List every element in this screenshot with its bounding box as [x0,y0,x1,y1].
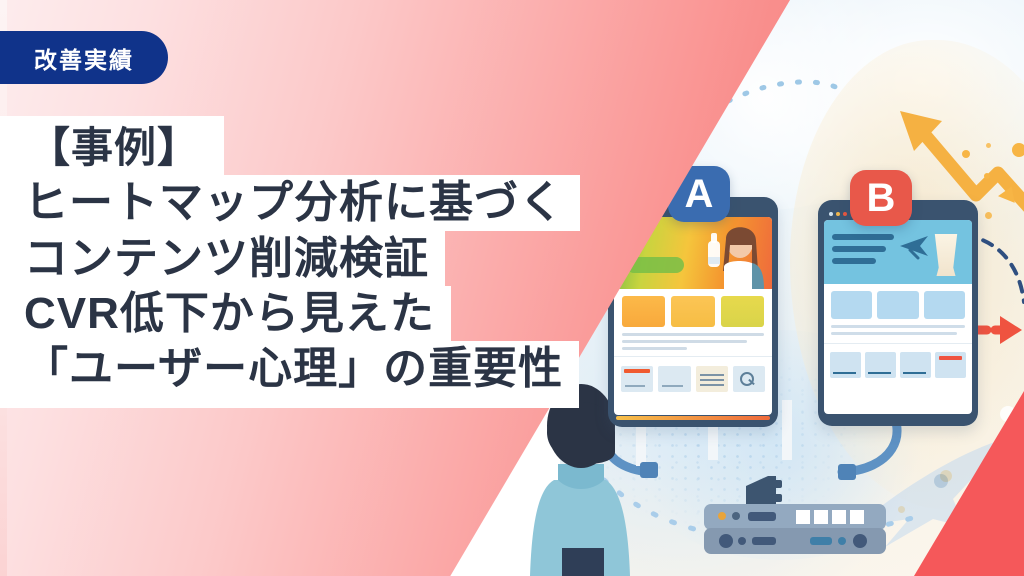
headline-line-5: 「ユーザー心理」の重要性 [0,341,579,407]
sparkle-dot [962,150,970,158]
slide-canvas: A [0,0,1024,576]
vase-illustration [932,234,960,276]
text-line [622,340,747,343]
thumb-tile [900,352,931,378]
hero-text-bar [832,246,886,252]
variant-a-card-row [614,289,772,327]
window-dot-icon [829,212,833,216]
thumb-tile [658,366,690,392]
content-card [831,291,872,319]
thumb-tile [621,366,653,392]
magnifier-tile [733,366,765,392]
variant-b-tile-row [824,343,972,378]
variant-b-card-row [824,284,972,319]
headline-line-4: CVR低下から見えた [0,286,451,341]
content-card [877,291,918,319]
content-card [622,296,665,327]
variant-a-tile-row [614,356,772,392]
thumb-tile [935,352,966,378]
tile-accent-bar [939,356,962,360]
tile-underline [868,372,891,374]
tile-underline [625,385,645,387]
variant-b-viewport [824,220,972,414]
headline-line-1: 【事例】 [0,116,224,175]
hero-text-bar [832,258,876,264]
server-machine-icon [700,452,890,562]
content-card [924,291,965,319]
headline-line-3: コンテンツ削減検証 [0,231,445,286]
tile-underline [903,372,926,374]
sparkle-dot [986,143,991,148]
woman-with-bottle-illustration [702,223,766,289]
window-dot-icon [843,212,847,216]
hero-text-bar [832,234,894,240]
content-card [721,296,764,327]
tile-line [700,384,724,386]
window-dot-icon [836,212,840,216]
headline-block: 【事例】 ヒートマップ分析に基づく コンテンツ削減検証 CVR低下から見えた 「… [0,116,580,408]
sparkle-dot [1012,143,1024,157]
thumb-tile [696,366,728,392]
tile-underline [833,372,856,374]
category-badge: 改善実績 [0,31,168,84]
thumb-tile [830,352,861,378]
text-line [831,332,957,335]
variant-a-text-lines [614,327,772,350]
variant-b-text-lines [824,319,972,335]
tile-line [700,379,724,381]
thumb-tile [865,352,896,378]
text-line [831,325,965,328]
text-line [622,333,764,336]
airplane-icon [898,232,932,260]
sparkle-dot [984,173,990,179]
sparkle-dot [985,212,992,219]
content-card [671,296,714,327]
variant-b-screen[interactable] [818,200,978,426]
tile-underline [662,385,682,387]
tile-accent-bar [624,369,650,373]
tile-line [700,374,724,376]
variant-b-hero [824,220,972,284]
text-line [622,347,687,350]
headline-line-2: ヒートマップ分析に基づく [0,175,580,230]
variant-b-badge: B [850,170,912,226]
